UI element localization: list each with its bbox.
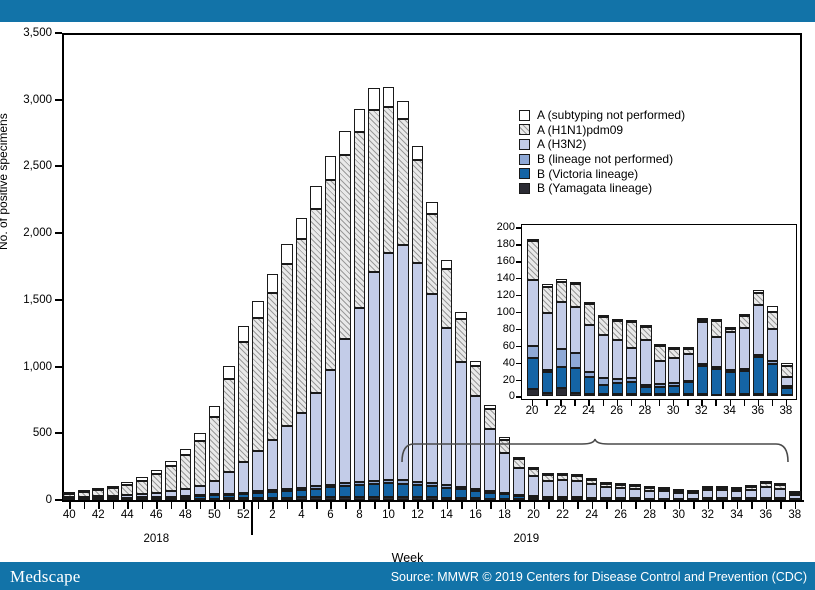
inset-bar-week-27 <box>626 320 637 396</box>
bar-segment <box>455 487 467 489</box>
bar-segment <box>63 492 75 494</box>
inset-bar-segment <box>683 349 694 354</box>
x-tick <box>795 502 797 509</box>
x-tick <box>345 502 347 509</box>
bar-segment <box>658 489 670 491</box>
inset-y-tick <box>516 312 522 313</box>
legend-item-a_h3n2: A (H3N2) <box>519 137 685 152</box>
x-tick-label: 18 <box>498 509 511 521</box>
x-tick-label: 26 <box>614 509 627 521</box>
bar-segment <box>281 244 293 264</box>
x-tick <box>708 502 710 509</box>
bar-week-38 <box>789 493 801 500</box>
inset-bar-week-31 <box>683 347 694 396</box>
x-tick-label: 44 <box>121 509 134 521</box>
bar-segment <box>557 480 569 497</box>
inset-bar-segment <box>556 367 567 387</box>
x-tick <box>780 502 782 509</box>
inset-bar-segment <box>753 293 764 305</box>
bar-segment <box>600 487 612 498</box>
inset-bar-segment <box>683 354 694 381</box>
bar-segment <box>513 496 525 499</box>
bar-segment <box>252 498 264 500</box>
x-tick <box>156 502 158 509</box>
bar-segment <box>165 491 177 497</box>
bar-week-1 <box>252 301 264 500</box>
x-tick-label: 28 <box>643 509 656 521</box>
x-tick <box>69 502 71 509</box>
inset-bar-week-33 <box>711 319 722 396</box>
bar-week-24 <box>586 479 598 500</box>
bar-week-6 <box>325 156 337 500</box>
bar-segment <box>484 493 496 499</box>
bar-segment <box>92 490 104 496</box>
bar-segment <box>368 110 380 273</box>
bar-week-2 <box>267 274 279 500</box>
bar-segment <box>368 497 380 500</box>
bar-segment <box>789 491 801 493</box>
bar-segment <box>644 491 656 499</box>
inset-bar-segment <box>767 312 778 330</box>
x-tick-label: 30 <box>672 509 685 521</box>
legend-swatch-icon <box>519 110 530 121</box>
bar-segment <box>528 467 540 469</box>
inset-bar-segment <box>584 304 595 325</box>
inset-bar-segment <box>668 349 679 358</box>
inset-bar-week-28 <box>640 325 651 396</box>
bar-week-35 <box>745 486 757 500</box>
inset-bar-segment <box>668 386 679 394</box>
bar-segment <box>78 497 90 499</box>
inset-x-tick <box>687 400 688 406</box>
bar-segment <box>281 489 293 491</box>
inset-bar-segment <box>570 393 581 396</box>
x-tick-label: 38 <box>788 509 801 521</box>
inset-bar-segment <box>668 347 679 349</box>
bar-segment <box>455 319 467 362</box>
bar-segment <box>267 293 279 440</box>
inset-bar-segment <box>668 358 679 383</box>
inset-x-tick-label: 20 <box>526 405 539 417</box>
bar-segment <box>325 487 337 497</box>
inset-bar-segment <box>711 321 722 337</box>
legend-item-b_lineage_not_performed: B (lineage not performed) <box>519 152 685 167</box>
bar-segment <box>223 495 235 499</box>
inset-bar-segment <box>626 322 637 348</box>
inset-x-tick-label: 30 <box>667 405 680 417</box>
bar-segment <box>615 488 627 498</box>
x-tick <box>417 502 419 509</box>
legend-swatch-icon <box>519 154 530 165</box>
bar-segment <box>281 264 293 427</box>
bar-segment <box>339 497 351 500</box>
x-tick-label: 32 <box>701 509 714 521</box>
bar-segment <box>238 462 250 493</box>
x-tick <box>592 502 594 509</box>
bar-segment <box>441 260 453 269</box>
x-tick <box>621 502 623 509</box>
bar-segment <box>383 497 395 500</box>
bar-segment <box>397 119 409 246</box>
inset-bar-week-38 <box>781 363 792 396</box>
inset-bar-segment <box>612 340 623 379</box>
inset-bar-segment <box>527 241 538 280</box>
bar-segment <box>63 494 75 498</box>
bar-week-29 <box>658 489 670 500</box>
bar-week-3 <box>281 244 293 500</box>
inset-bar-segment <box>556 388 567 396</box>
inset-bar-segment <box>683 347 694 349</box>
inset-bar-week-25 <box>598 316 609 396</box>
x-tick <box>113 502 115 509</box>
bar-segment <box>368 484 380 497</box>
inset-bar-segment <box>612 383 623 394</box>
x-tick-label: 14 <box>440 509 453 521</box>
inset-bar-segment <box>598 385 609 394</box>
x-tick <box>722 502 724 509</box>
inset-x-tick <box>574 400 575 406</box>
bar-week-7 <box>339 134 351 500</box>
x-tick-label: 22 <box>556 509 569 521</box>
inset-y-tick-label: 140 <box>475 272 515 284</box>
bar-segment <box>238 342 250 462</box>
inset-bar-segment <box>711 337 722 367</box>
bar-segment <box>194 433 206 441</box>
inset-bar-segment <box>556 282 567 302</box>
bar-week-45 <box>136 477 148 500</box>
inset-bar-segment <box>584 302 595 304</box>
inset-bar-segment <box>767 329 778 361</box>
x-tick-label: 6 <box>327 509 333 521</box>
x-tick <box>693 502 695 509</box>
bar-week-48 <box>180 449 192 501</box>
x-tick <box>243 502 245 509</box>
bar-segment <box>629 484 641 486</box>
inset-y-tick-label: 60 <box>475 340 515 352</box>
bar-segment <box>238 498 250 500</box>
inset-bar-segment <box>556 279 567 282</box>
legend-item-b_victoria: B (Victoria lineage) <box>519 166 685 181</box>
bar-segment <box>615 483 627 485</box>
inset-y-tick <box>516 295 522 296</box>
inset-y-tick-label: 200 <box>475 221 515 233</box>
bar-segment <box>209 495 221 498</box>
x-tick <box>664 502 666 509</box>
inset-x-tick-label: 22 <box>554 405 567 417</box>
bar-segment <box>267 274 279 293</box>
inset-bar-week-22 <box>556 279 567 396</box>
legend-label: A (H1N1)pdm09 <box>537 123 623 137</box>
bar-segment <box>107 486 119 488</box>
bar-segment <box>325 156 337 180</box>
inset-bar-segment <box>725 329 736 332</box>
x-tick <box>127 502 129 509</box>
year-divider <box>251 500 253 535</box>
bar-segment <box>310 486 322 488</box>
bar-segment <box>412 146 424 160</box>
bar-segment <box>383 107 395 252</box>
inset-chart-bars <box>522 225 796 399</box>
inset-plot-area <box>521 224 797 400</box>
bar-week-51 <box>223 366 235 500</box>
bar-segment <box>136 494 148 497</box>
bar-segment <box>339 486 351 497</box>
bar-segment <box>702 488 714 490</box>
inset-bar-segment <box>711 369 722 395</box>
bar-segment <box>252 451 264 491</box>
x-tick-label: 40 <box>63 509 76 521</box>
bar-week-49 <box>194 433 206 501</box>
bar-segment <box>557 473 569 475</box>
bar-week-21 <box>542 475 554 500</box>
bar-segment <box>412 160 424 263</box>
x-tick-label: 46 <box>150 509 163 521</box>
bar-week-32 <box>702 488 714 500</box>
inset-bar-segment <box>739 328 750 369</box>
inset-bar-week-29 <box>654 344 665 396</box>
bar-segment <box>586 480 598 484</box>
bar-segment <box>615 485 627 488</box>
inset-bar-segment <box>626 320 637 322</box>
x-tick <box>229 502 231 509</box>
bar-segment <box>238 326 250 342</box>
bar-segment <box>542 473 554 475</box>
bar-segment <box>180 449 192 455</box>
bar-segment <box>673 489 685 491</box>
bar-segment <box>354 109 366 132</box>
bar-segment <box>484 409 496 429</box>
x-tick <box>200 502 202 509</box>
bar-week-5 <box>310 186 322 500</box>
inset-bar-segment <box>527 280 538 346</box>
bar-segment <box>209 417 221 481</box>
bar-segment <box>165 497 177 499</box>
inset-bar-segment <box>598 317 609 335</box>
bar-segment <box>731 487 743 489</box>
inset-y-tick-label: 160 <box>475 255 515 267</box>
inset-bar-segment <box>697 366 708 395</box>
inset-x-tick <box>772 400 773 406</box>
bar-segment <box>470 489 482 491</box>
inset-y-tick <box>516 329 522 330</box>
bar-segment <box>267 498 279 500</box>
bar-segment <box>745 485 757 487</box>
x-tick <box>403 502 405 509</box>
inset-y-tick <box>516 346 522 347</box>
bar-segment <box>238 494 250 498</box>
bar-week-46 <box>151 470 163 500</box>
inset-bar-week-35 <box>739 314 750 396</box>
bar-segment <box>441 269 453 328</box>
inset-bar-segment <box>654 384 665 387</box>
inset-y-tick-label: 180 <box>475 238 515 250</box>
bar-segment <box>296 490 308 498</box>
inset-bar-segment <box>767 306 778 311</box>
bar-week-30 <box>673 491 685 500</box>
inset-y-tick <box>516 227 522 228</box>
x-tick-label: 8 <box>356 509 362 521</box>
bar-segment <box>455 312 467 319</box>
inset-bar-segment <box>640 385 651 387</box>
bar-segment <box>426 486 438 497</box>
inset-bar-segment <box>584 372 595 377</box>
bar-segment <box>774 485 786 488</box>
x-tick <box>84 502 86 509</box>
bar-segment <box>426 214 438 294</box>
bar-segment <box>354 132 366 308</box>
bar-segment <box>383 253 395 480</box>
bar-segment <box>774 489 786 499</box>
bar-segment <box>484 405 496 409</box>
inset-bar-segment <box>697 322 708 364</box>
bar-week-33 <box>716 487 728 500</box>
inset-y-tick-label: 40 <box>475 357 515 369</box>
bar-segment <box>180 455 192 489</box>
bar-segment <box>121 482 133 485</box>
x-tick <box>98 502 100 509</box>
bar-segment <box>325 370 337 485</box>
bar-segment <box>383 87 395 107</box>
x-tick <box>432 502 434 509</box>
bar-segment <box>716 486 728 488</box>
x-tick <box>476 502 478 509</box>
bar-segment <box>223 472 235 493</box>
inset-x-tick-label: 36 <box>751 405 764 417</box>
x-tick <box>563 502 565 509</box>
inset-bar-segment <box>640 387 651 395</box>
inset-bar-segment <box>654 387 665 395</box>
bar-segment <box>368 272 380 480</box>
bar-segment <box>310 489 322 498</box>
bar-segment <box>194 441 206 486</box>
bar-segment <box>354 497 366 500</box>
bar-segment <box>310 393 322 486</box>
y-axis-ticks <box>0 0 62 505</box>
bar-segment <box>716 490 728 498</box>
inset-bar-segment <box>598 315 609 317</box>
inset-bar-week-36 <box>753 290 764 396</box>
bar-segment <box>339 131 351 155</box>
x-tick <box>534 502 536 509</box>
bar-week-15 <box>455 312 467 500</box>
bar-week-9 <box>368 88 380 500</box>
medscape-logo: Medscape <box>10 567 81 587</box>
bar-segment <box>354 482 366 485</box>
bar-segment <box>760 481 772 483</box>
inset-bar-segment <box>640 325 651 327</box>
bar-segment <box>107 496 119 498</box>
bar-segment <box>339 155 351 339</box>
inset-x-tick <box>744 400 745 406</box>
bar-segment <box>383 483 395 496</box>
bar-segment <box>252 301 264 318</box>
inset-bar-segment <box>725 332 736 370</box>
legend-swatch-icon <box>519 168 530 179</box>
bar-week-26 <box>615 484 627 500</box>
x-tick <box>214 502 216 509</box>
source-credit: Source: MMWR © 2019 Centers for Disease … <box>391 570 807 584</box>
x-tick <box>301 502 303 509</box>
y-tick <box>55 32 62 34</box>
bar-segment <box>223 379 235 472</box>
bar-segment <box>586 484 598 497</box>
x-tick-label: 36 <box>759 509 772 521</box>
x-tick <box>287 502 289 509</box>
inset-bar-segment <box>697 364 708 366</box>
bar-segment <box>151 493 163 498</box>
bar-segment <box>223 366 235 379</box>
inset-bar-week-24 <box>584 302 595 396</box>
x-tick <box>577 502 579 509</box>
inset-x-tick-label: 24 <box>582 405 595 417</box>
inset-bar-segment <box>570 368 581 393</box>
bar-segment <box>760 487 772 498</box>
year-label-right: 2019 <box>514 533 540 545</box>
bar-segment <box>412 485 424 497</box>
legend-label: A (H3N2) <box>537 137 586 151</box>
bar-segment <box>426 497 438 500</box>
inset-bar-segment <box>626 382 637 395</box>
bar-segment <box>107 488 119 496</box>
inset-bar-segment <box>739 371 750 395</box>
bar-segment <box>383 480 395 484</box>
x-tick-label: 12 <box>411 509 424 521</box>
bar-segment <box>716 488 728 490</box>
bar-segment <box>339 339 351 483</box>
inset-bar-segment <box>598 335 609 378</box>
bar-segment <box>586 478 598 480</box>
inset-bar-segment <box>640 340 651 385</box>
bar-week-4 <box>296 218 308 500</box>
inset-bar-week-37 <box>767 306 778 396</box>
bar-segment <box>441 485 453 488</box>
bar-segment <box>296 239 308 412</box>
bar-segment <box>281 491 293 498</box>
inset-y-tick-label: 100 <box>475 306 515 318</box>
bar-segment <box>658 491 670 498</box>
bar-segment <box>368 88 380 110</box>
x-tick <box>258 502 260 509</box>
bar-segment <box>571 474 583 476</box>
inset-bar-segment <box>598 378 609 385</box>
legend-swatch-icon <box>519 124 530 135</box>
bar-week-34 <box>731 488 743 500</box>
bar-segment <box>296 218 308 239</box>
bar-segment <box>267 440 279 491</box>
bar-segment <box>194 496 206 499</box>
x-tick-label: 4 <box>298 509 304 521</box>
legend-item-b_yamagata: B (Yamagata lineage) <box>519 181 685 196</box>
inset-bar-segment <box>570 307 581 353</box>
x-tick <box>505 502 507 509</box>
inset-bar-segment <box>739 314 750 316</box>
inset-x-tick <box>631 400 632 406</box>
bar-segment <box>310 209 322 393</box>
inset-bar-segment <box>767 364 778 394</box>
bar-segment <box>78 492 90 497</box>
inset-y-tick-label: 80 <box>475 323 515 335</box>
bar-segment <box>310 186 322 209</box>
inset-bar-week-20 <box>527 239 538 396</box>
x-tick-label: 48 <box>179 509 192 521</box>
y-tick <box>55 499 62 501</box>
bar-week-23 <box>571 475 583 500</box>
bar-segment <box>629 489 641 498</box>
x-tick <box>272 502 274 509</box>
inset-y-tick <box>516 278 522 279</box>
x-tick <box>330 502 332 509</box>
bar-segment <box>412 482 424 485</box>
